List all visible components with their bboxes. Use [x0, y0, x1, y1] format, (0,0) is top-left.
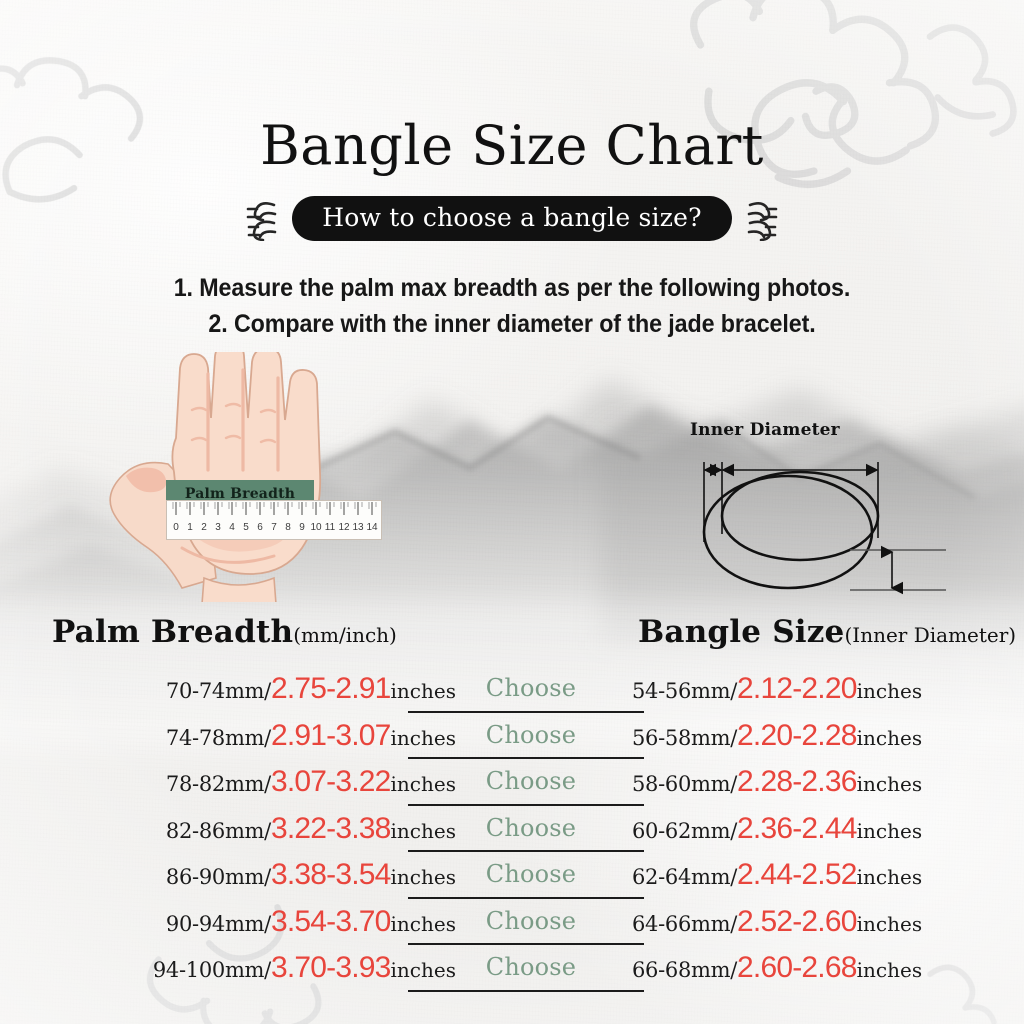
- bangle-size-inch-value: 2.28-2.36: [737, 765, 857, 799]
- choose-connector-line: [408, 850, 644, 852]
- svg-text:5: 5: [243, 522, 249, 533]
- choose-link[interactable]: Choose: [432, 953, 630, 981]
- svg-text:8: 8: [285, 522, 291, 533]
- bangle-size-mm-value: 62-64mm/: [632, 865, 737, 889]
- svg-text:0: 0: [173, 522, 179, 533]
- choose-link[interactable]: Choose: [432, 814, 630, 842]
- palm-breadth-mm-value: 70-74mm/: [166, 679, 271, 703]
- svg-text:2: 2: [201, 522, 207, 533]
- choose-row: Choose: [432, 951, 630, 998]
- bangle-size-inch-value: 2.44-2.52: [737, 858, 857, 892]
- bangle-size-unit-label: inches: [857, 819, 922, 843]
- table-row: 66-68mm/2.60-2.68inches: [632, 951, 1012, 998]
- svg-text:10: 10: [310, 522, 322, 533]
- table-row: 78-82mm/3.07-3.22inches: [36, 765, 456, 812]
- palm-breadth-inch-value: 2.91-3.07: [271, 719, 391, 753]
- table-row: 54-56mm/2.12-2.20inches: [632, 672, 1012, 719]
- svg-text:7: 7: [271, 522, 277, 533]
- svg-text:3: 3: [215, 522, 221, 533]
- bangle-size-heading-unit: (Inner Diameter): [845, 623, 1017, 647]
- bangle-size-inch-value: 2.36-2.44: [737, 812, 857, 846]
- choose-connector-line: [408, 943, 644, 945]
- choose-row: Choose: [432, 905, 630, 952]
- palm-breadth-inch-value: 2.75-2.91: [271, 672, 391, 706]
- svg-text:12: 12: [338, 522, 350, 533]
- flourish-ornament-right-icon: [746, 197, 780, 241]
- choose-link[interactable]: Choose: [432, 767, 630, 795]
- table-row: 64-66mm/2.52-2.60inches: [632, 905, 1012, 952]
- table-row: 94-100mm/3.70-3.93inches: [36, 951, 456, 998]
- bangle-size-mm-value: 58-60mm/: [632, 772, 737, 796]
- bangle-size-mm-value: 64-66mm/: [632, 912, 737, 936]
- choose-link[interactable]: Choose: [432, 721, 630, 749]
- instruction-step-2: 2. Compare with the inner diameter of th…: [36, 306, 988, 342]
- ruler-illustration: 012 345 678 91011 121314: [166, 500, 382, 540]
- bangle-size-heading-main: Bangle Size: [638, 614, 845, 650]
- bangle-size-inch-value: 2.60-2.68: [737, 951, 857, 985]
- palm-breadth-mm-value: 86-90mm/: [166, 865, 271, 889]
- subtitle-pill: How to choose a bangle size?: [292, 196, 731, 241]
- instructions-list: 1. Measure the palm max breadth as per t…: [0, 270, 1024, 343]
- bangle-size-inch-value: 2.52-2.60: [737, 905, 857, 939]
- bangle-size-inch-value: 2.20-2.28: [737, 719, 857, 753]
- choose-connector-line: [408, 804, 644, 806]
- bangle-size-inch-value: 2.12-2.20: [737, 672, 857, 706]
- choose-row: Choose: [432, 858, 630, 905]
- table-row: 60-62mm/2.36-2.44inches: [632, 812, 1012, 859]
- flourish-ornament-left-icon: [244, 197, 278, 241]
- bangle-size-mm-value: 60-62mm/: [632, 819, 737, 843]
- bangle-size-unit-label: inches: [857, 772, 922, 796]
- choose-connector-line: [408, 990, 644, 992]
- palm-breadth-heading: Palm Breadth(mm/inch): [52, 614, 397, 650]
- choose-row: Choose: [432, 812, 630, 859]
- svg-text:9: 9: [299, 522, 305, 533]
- palm-breadth-mm-value: 78-82mm/: [166, 772, 271, 796]
- bangle-size-chart-page: Bangle Size Chart How to choose a bangle…: [0, 0, 1024, 1024]
- choose-link[interactable]: Choose: [432, 674, 630, 702]
- choose-connector-line: [408, 897, 644, 899]
- table-row: 62-64mm/2.44-2.52inches: [632, 858, 1012, 905]
- table-row: 74-78mm/2.91-3.07inches: [36, 719, 456, 766]
- palm-breadth-table: 70-74mm/2.75-2.91inches74-78mm/2.91-3.07…: [36, 672, 456, 998]
- bangle-size-mm-value: 56-58mm/: [632, 726, 737, 750]
- palm-breadth-heading-unit: (mm/inch): [293, 623, 397, 647]
- table-row: 56-58mm/2.20-2.28inches: [632, 719, 1012, 766]
- choose-row: Choose: [432, 765, 630, 812]
- bangle-diagram: [660, 420, 990, 605]
- page-title: Bangle Size Chart: [0, 114, 1024, 177]
- palm-breadth-mm-value: 74-78mm/: [166, 726, 271, 750]
- table-row: 58-60mm/2.28-2.36inches: [632, 765, 1012, 812]
- hand-measurement-figure: Palm Breadth: [96, 352, 426, 602]
- choose-column: ChooseChooseChooseChooseChooseChooseChoo…: [432, 672, 630, 998]
- inner-diameter-label: Inner Diameter: [690, 420, 840, 440]
- hand-illustration: [96, 352, 426, 602]
- choose-link[interactable]: Choose: [432, 860, 630, 888]
- bangle-size-unit-label: inches: [857, 865, 922, 889]
- svg-text:6: 6: [257, 522, 263, 533]
- instruction-step-1: 1. Measure the palm max breadth as per t…: [36, 270, 988, 306]
- bangle-size-unit-label: inches: [857, 726, 922, 750]
- bangle-size-unit-label: inches: [857, 958, 922, 982]
- svg-text:11: 11: [325, 522, 336, 533]
- choose-row: Choose: [432, 672, 630, 719]
- choose-row: Choose: [432, 719, 630, 766]
- palm-breadth-heading-main: Palm Breadth: [52, 614, 293, 650]
- palm-breadth-mm-value: 82-86mm/: [166, 819, 271, 843]
- bangle-size-mm-value: 66-68mm/: [632, 958, 737, 982]
- choose-connector-line: [408, 757, 644, 759]
- choose-connector-line: [408, 711, 644, 713]
- table-row: 86-90mm/3.38-3.54inches: [36, 858, 456, 905]
- subtitle-row: How to choose a bangle size?: [0, 196, 1024, 241]
- palm-breadth-inch-value: 3.22-3.38: [271, 812, 391, 846]
- bangle-size-table: 54-56mm/2.12-2.20inches56-58mm/2.20-2.28…: [632, 672, 1012, 998]
- table-row: 70-74mm/2.75-2.91inches: [36, 672, 456, 719]
- bangle-diagram-figure: Inner Diameter: [660, 420, 990, 605]
- table-row: 82-86mm/3.22-3.38inches: [36, 812, 456, 859]
- svg-text:1: 1: [187, 522, 193, 533]
- palm-breadth-inch-value: 3.54-3.70: [271, 905, 391, 939]
- bangle-size-unit-label: inches: [857, 912, 922, 936]
- bangle-size-mm-value: 54-56mm/: [632, 679, 737, 703]
- choose-link[interactable]: Choose: [432, 907, 630, 935]
- bangle-size-heading: Bangle Size(Inner Diameter): [638, 614, 1016, 650]
- ruler-tick-labels: 012 345 678 91011 121314: [173, 522, 378, 533]
- table-row: 90-94mm/3.54-3.70inches: [36, 905, 456, 952]
- svg-text:14: 14: [366, 522, 378, 533]
- palm-breadth-mm-value: 90-94mm/: [166, 912, 271, 936]
- palm-breadth-inch-value: 3.70-3.93: [271, 951, 391, 985]
- palm-breadth-inch-value: 3.38-3.54: [271, 858, 391, 892]
- svg-text:13: 13: [352, 522, 364, 533]
- palm-breadth-inch-value: 3.07-3.22: [271, 765, 391, 799]
- palm-breadth-mm-value: 94-100mm/: [153, 958, 271, 982]
- bangle-size-unit-label: inches: [857, 679, 922, 703]
- svg-text:4: 4: [229, 522, 235, 533]
